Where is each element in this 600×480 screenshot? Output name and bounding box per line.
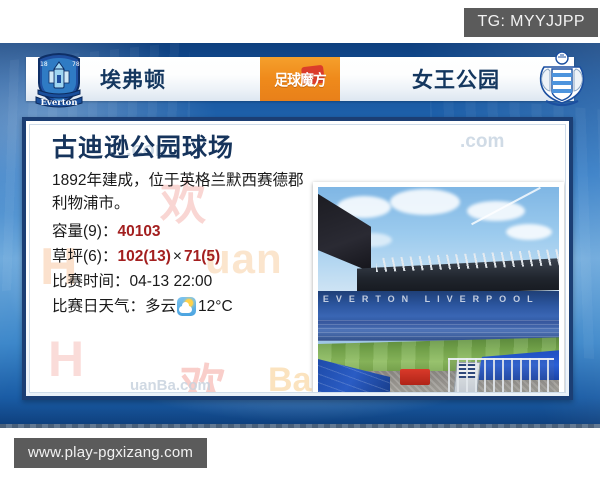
qpr-crest-icon (530, 51, 594, 109)
match-time-row: 比赛时间：04-13 22:00 (52, 269, 320, 294)
capacity-value: 40103 (117, 223, 160, 240)
weather-value: 多云 (145, 294, 176, 319)
pitch-size-row: 草坪(6)：102(13)×71(5) (52, 244, 320, 269)
watermark-text: 欢 (180, 350, 226, 393)
stadium-description: 1892年建成，位于英格兰默西赛德郡利物浦市。 (52, 169, 314, 216)
stadium-photo-frame: EVERTON LIVERPOOL (313, 182, 564, 393)
weather-temperature: 12°C (198, 294, 233, 319)
watermark-text: H (48, 330, 84, 388)
seat-rows-texture (318, 320, 559, 341)
red-machine (400, 369, 430, 385)
home-team-name: 埃弗顿 (100, 64, 166, 94)
stadium-photo: EVERTON LIVERPOOL (318, 187, 559, 393)
svg-text:78: 78 (72, 61, 80, 68)
svg-text:18: 18 (40, 61, 48, 68)
watermark-text: Ba (268, 361, 311, 393)
pitch-length: 102(13) (117, 248, 170, 265)
stand-seat-lettering: EVERTON LIVERPOOL (323, 294, 554, 310)
away-team-name: 女王公园 (412, 64, 500, 94)
capacity-label: 容量(9)： (52, 223, 117, 240)
capacity-row: 容量(9)：40103 (52, 219, 320, 244)
panel-inner: .com .com 欢 H uan H 欢 Ba uanBa.com 古迪逊公园… (29, 124, 566, 393)
telegram-tag: TG: MYYJJPP (464, 8, 598, 37)
partly-cloudy-icon (177, 297, 196, 316)
watermark-text: .com (460, 131, 504, 153)
center-brand-logo: 足球魔方 (260, 57, 340, 101)
match-time-value: 04-13 22:00 (130, 273, 213, 290)
pitch-separator: × (173, 248, 182, 265)
stadium-info-panel: .com .com 欢 H uan H 欢 Ba uanBa.com 古迪逊公园… (22, 117, 573, 400)
weather-row: 比赛日天气：多云 12°C (52, 294, 320, 319)
pitch-label: 草坪(6)： (52, 248, 117, 265)
watermark-text: uanBa.com (130, 377, 211, 393)
cloud-shape (179, 306, 192, 313)
match-time-label: 比赛时间： (52, 273, 130, 290)
stadium-title: 古迪逊公园球场 (52, 135, 320, 163)
stadium-info-text: 古迪逊公园球场 1892年建成，位于英格兰默西赛德郡利物浦市。 容量(9)：40… (52, 135, 320, 319)
pitch-width: 71(5) (184, 248, 220, 265)
site-watermark-tag: www.play-pgxizang.com (14, 438, 207, 468)
match-graphic: 埃弗顿 女王公园 足球魔方 18 78 Everton (0, 43, 600, 428)
everton-crest-icon: 18 78 Everton (28, 49, 90, 111)
weather-label: 比赛日天气： (52, 294, 145, 319)
svg-text:Everton: Everton (40, 98, 77, 108)
center-brand-logo-text: 足球魔方 (274, 69, 326, 90)
fence-railing (448, 358, 554, 393)
cloud (506, 224, 552, 240)
